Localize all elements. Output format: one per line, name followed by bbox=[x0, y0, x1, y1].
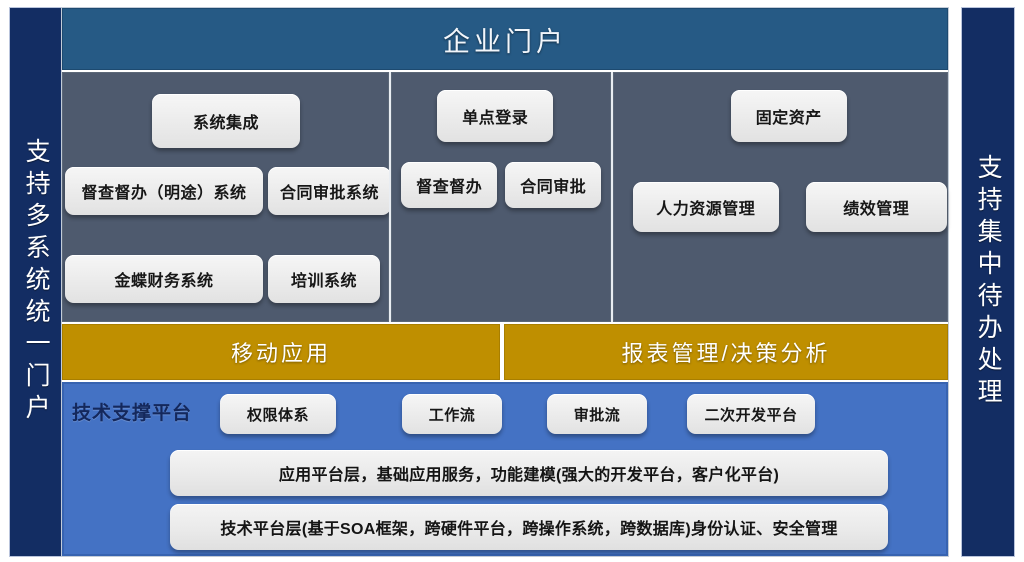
right-side-banner-text: 支持集中待办处理 bbox=[975, 154, 1001, 410]
enterprise-portal-header: 企业门户 bbox=[62, 8, 948, 70]
app-tile-performance-management[interactable]: 绩效管理 bbox=[806, 182, 947, 232]
platform-layer-application[interactable]: 应用平台层，基础应用服务，功能建模(强大的开发平台，客户化平台) bbox=[170, 450, 888, 496]
application-columns-band: 系统集成 督查督办（明途）系统 合同审批系统 金蝶财务系统 培训系统 单点登录 … bbox=[62, 72, 948, 322]
application-column-1: 系统集成 督查督办（明途）系统 合同审批系统 金蝶财务系统 培训系统 bbox=[62, 72, 389, 322]
app-tile-supervision[interactable]: 督查督办 bbox=[401, 162, 497, 208]
app-tile-system-integration[interactable]: 系统集成 bbox=[152, 94, 300, 148]
application-column-3: 固定资产 人力资源管理 绩效管理 bbox=[611, 72, 948, 322]
platform-layer-technology[interactable]: 技术平台层(基于SOA框架，跨硬件平台，跨操作系统，跨数据库)身份认证、安全管理 bbox=[170, 504, 888, 550]
band-mobile-application[interactable]: 移动应用 bbox=[62, 324, 500, 380]
platform-module-approval-flow[interactable]: 审批流 bbox=[547, 394, 647, 434]
band-report-management-decision-analysis[interactable]: 报表管理/决策分析 bbox=[504, 324, 948, 380]
gold-service-band: 移动应用 报表管理/决策分析 bbox=[62, 324, 948, 380]
architecture-frame: 企业门户 系统集成 督查督办（明途）系统 合同审批系统 金蝶财务系统 培训系统 … bbox=[62, 8, 948, 556]
left-side-banner: 支持多系统统一门户 bbox=[10, 8, 62, 556]
app-tile-training-system[interactable]: 培训系统 bbox=[268, 255, 380, 303]
application-column-2: 单点登录 督查督办 合同审批 bbox=[389, 72, 611, 322]
page-title: 企业门户 bbox=[443, 20, 567, 59]
app-tile-supervision-mingtu-system[interactable]: 督查督办（明途）系统 bbox=[65, 167, 263, 215]
right-side-banner: 支持集中待办处理 bbox=[962, 8, 1014, 556]
app-tile-fixed-assets[interactable]: 固定资产 bbox=[731, 90, 847, 142]
app-tile-human-resource-management[interactable]: 人力资源管理 bbox=[633, 182, 779, 232]
platform-module-permission-system[interactable]: 权限体系 bbox=[220, 394, 336, 434]
left-side-banner-text: 支持多系统统一门户 bbox=[23, 138, 49, 426]
app-tile-contract-approval-system[interactable]: 合同审批系统 bbox=[268, 167, 391, 215]
platform-module-secondary-development[interactable]: 二次开发平台 bbox=[687, 394, 815, 434]
app-tile-contract-approval[interactable]: 合同审批 bbox=[505, 162, 601, 208]
platform-module-workflow[interactable]: 工作流 bbox=[402, 394, 502, 434]
app-tile-single-sign-on[interactable]: 单点登录 bbox=[437, 90, 553, 142]
platform-label: 技术支撑平台 bbox=[72, 398, 192, 425]
app-tile-kingdee-finance-system[interactable]: 金蝶财务系统 bbox=[65, 255, 263, 303]
diagram-canvas: 支持多系统统一门户 支持集中待办处理 企业门户 系统集成 督查督办（明途）系统 … bbox=[0, 0, 1024, 562]
technology-support-platform: 技术支撑平台 权限体系 工作流 审批流 二次开发平台 应用平台层，基础应用服务，… bbox=[62, 382, 948, 556]
